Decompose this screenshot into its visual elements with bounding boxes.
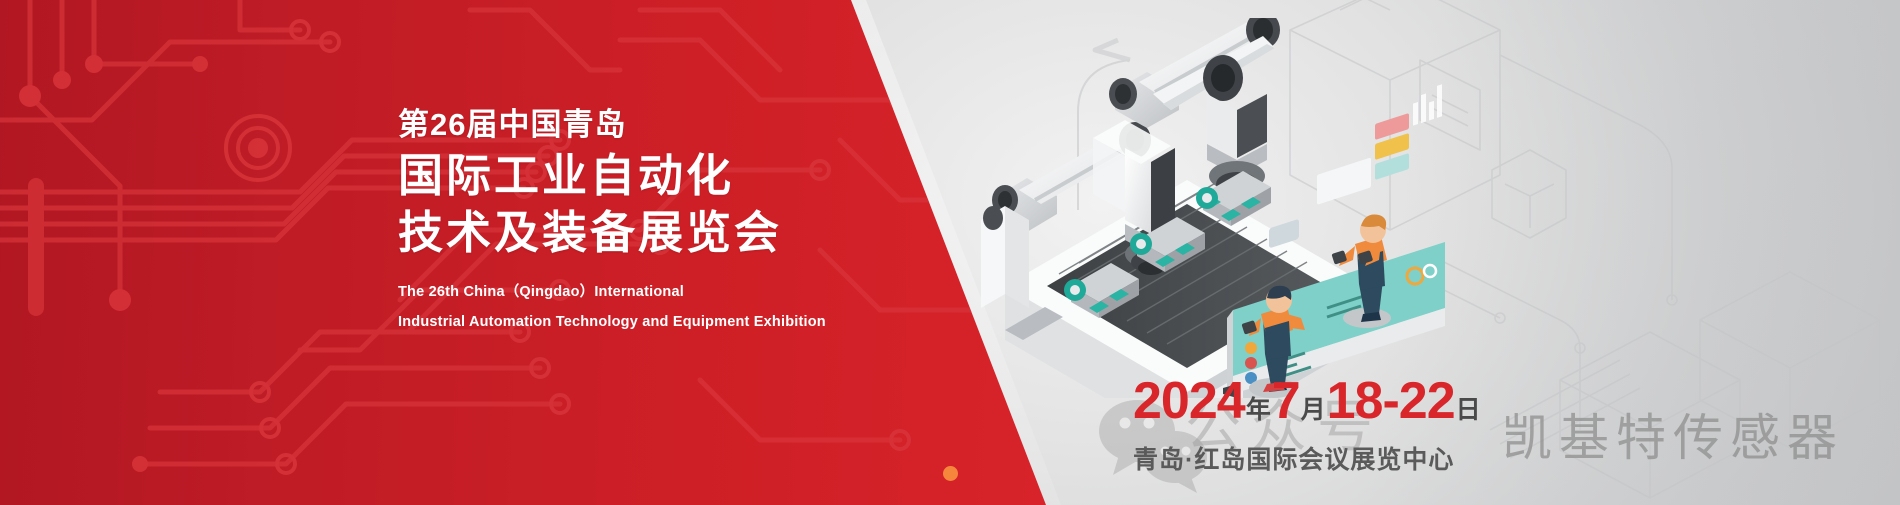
- event-venue: 青岛·红岛国际会议展览中心: [1133, 440, 1454, 476]
- event-year-suffix: 年: [1245, 396, 1272, 424]
- event-day-range: 18-22: [1327, 372, 1455, 430]
- headline-line-2: 国际工业自动化: [398, 147, 782, 205]
- event-date: 2024年7月18-22日: [1133, 375, 1482, 427]
- orange-dot: [943, 466, 958, 481]
- event-month-suffix: 月: [1300, 396, 1327, 424]
- headline-line-1: 第26届中国青岛: [398, 108, 782, 143]
- subtitle-line-1: The 26th China（Qingdao）International: [398, 278, 826, 308]
- subtitle-block: The 26th China（Qingdao）International Ind…: [398, 278, 826, 337]
- subtitle-line-2: Industrial Automation Technology and Equ…: [398, 308, 826, 338]
- exhibition-banner: 第26届中国青岛 国际工业自动化 技术及装备展览会 The 26th China…: [0, 0, 1900, 505]
- event-month: 7: [1272, 372, 1300, 430]
- headline-block: 第26届中国青岛 国际工业自动化 技术及装备展览会: [398, 108, 782, 262]
- event-year: 2024: [1133, 372, 1245, 430]
- headline-line-3: 技术及装备展览会: [398, 204, 782, 262]
- isometric-factory-illustration: [975, 18, 1475, 398]
- event-day-suffix: 日: [1455, 396, 1482, 424]
